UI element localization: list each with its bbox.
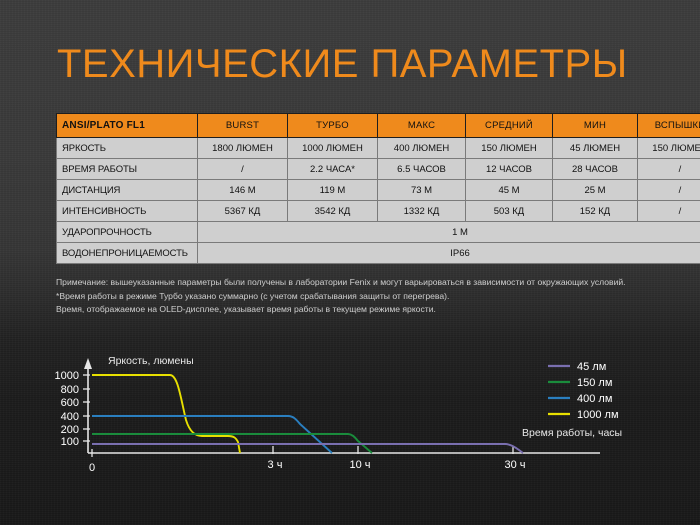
cell-distance-max: 73 М [378,180,466,201]
table-header-cell-6: ВСПЫШКИ [638,114,700,138]
legend-label-400lm: 400 лм [577,393,612,405]
y-tick-600: 600 [61,397,79,409]
cell-runtime-turbo: 2.2 ЧАСА* [288,159,378,180]
cell-runtime-strobe: / [638,159,700,180]
cell-distance-mid: 45 М [466,180,553,201]
table-row: УДАРОПРОЧНОСТЬ 1 М [57,222,700,243]
slide-root: ТЕХНИЧЕСКИЕ ПАРАМЕТРЫ ANSI/PLATO FL1 BUR… [0,0,700,525]
table-row: ИНТЕНСИВНОСТЬ 5367 КД 3542 КД 1332 КД 50… [57,201,700,222]
cell-intensity-mid: 503 КД [466,201,553,222]
cell-intensity-turbo: 3542 КД [288,201,378,222]
cell-runtime-max: 6.5 ЧАСОВ [378,159,466,180]
chart-x-tick-labels: 0 3 ч 10 ч 30 ч [89,459,526,474]
cell-intensity-strobe: / [638,201,700,222]
legend-label-150lm: 150 лм [577,377,612,389]
chart-x-axis-title: Время работы, часы [522,427,622,439]
x-tick-10: 10 ч [349,459,370,471]
y-tick-800: 800 [61,384,79,396]
series-line-45lm [92,444,523,453]
table-header-cell-0: ANSI/PLATO FL1 [57,114,198,138]
y-tick-400: 400 [61,411,79,423]
chart-y-ticks [83,375,90,441]
cell-brightness-max: 400 ЛЮМЕН [378,138,466,159]
table-row: ВРЕМЯ РАБОТЫ / 2.2 ЧАСА* 6.5 ЧАСОВ 12 ЧА… [57,159,700,180]
cell-distance-turbo: 119 М [288,180,378,201]
note-line-3: Время, отображаемое на OLED-дисплее, ука… [56,303,646,317]
legend-label-1000lm: 1000 лм [577,409,619,421]
specifications-table: ANSI/PLATO FL1 BURST ТУРБО МАКС СРЕДНИЙ … [56,113,700,264]
x-tick-30: 30 ч [504,459,525,471]
series-line-1000lm [92,375,240,453]
chart-y-axis [84,358,92,453]
table-row: ВОДОНЕПРОНИЦАЕМОСТЬ IP66 [57,243,700,264]
row-label-intensity: ИНТЕНСИВНОСТЬ [57,201,198,222]
cell-runtime-mid: 12 ЧАСОВ [466,159,553,180]
y-tick-100: 100 [61,436,79,448]
chart-y-axis-title: Яркость, люмены [108,355,194,367]
cell-intensity-min: 152 КД [553,201,638,222]
row-label-runtime: ВРЕМЯ РАБОТЫ [57,159,198,180]
table-header-cell-1: BURST [198,114,288,138]
page-title: ТЕХНИЧЕСКИЕ ПАРАМЕТРЫ [57,42,628,87]
runtime-chart: 1000 800 600 400 200 100 0 3 ч 10 ч 30 ч… [0,340,700,525]
cell-brightness-min: 45 ЛЮМЕН [553,138,638,159]
table-header-cell-2: ТУРБО [288,114,378,138]
cell-waterproof-value: IP66 [198,243,700,264]
row-label-brightness: ЯРКОСТЬ [57,138,198,159]
x-tick-0: 0 [89,462,95,474]
chart-x-ticks [92,446,513,457]
table-row: ДИСТАНЦИЯ 146 М 119 М 73 М 45 М 25 М / [57,180,700,201]
cell-brightness-turbo: 1000 ЛЮМЕН [288,138,378,159]
chart-y-tick-labels: 1000 800 600 400 200 100 [55,370,79,448]
notes-block: Примечание: вышеуказанные параметры были… [56,276,646,317]
chart-legend: 45 лм 150 лм 400 лм 1000 лм [548,361,619,421]
cell-intensity-burst: 5367 КД [198,201,288,222]
table-header-row: ANSI/PLATO FL1 BURST ТУРБО МАКС СРЕДНИЙ … [57,114,700,138]
row-label-distance: ДИСТАНЦИЯ [57,180,198,201]
cell-brightness-strobe: 150 ЛЮМЕН [638,138,700,159]
row-label-waterproof: ВОДОНЕПРОНИЦАЕМОСТЬ [57,243,198,264]
table-row: ЯРКОСТЬ 1800 ЛЮМЕН 1000 ЛЮМЕН 400 ЛЮМЕН … [57,138,700,159]
cell-runtime-min: 28 ЧАСОВ [553,159,638,180]
legend-label-45lm: 45 лм [577,361,606,373]
cell-brightness-burst: 1800 ЛЮМЕН [198,138,288,159]
cell-runtime-burst: / [198,159,288,180]
cell-distance-min: 25 М [553,180,638,201]
cell-intensity-max: 1332 КД [378,201,466,222]
table-header-cell-3: МАКС [378,114,466,138]
row-label-impact-resistance: УДАРОПРОЧНОСТЬ [57,222,198,243]
note-line-2: *Время работы в режиме Турбо указано сум… [56,290,646,304]
table-header-cell-4: СРЕДНИЙ [466,114,553,138]
cell-distance-burst: 146 М [198,180,288,201]
table-header-cell-5: МИН [553,114,638,138]
cell-brightness-mid: 150 ЛЮМЕН [466,138,553,159]
cell-distance-strobe: / [638,180,700,201]
x-tick-3: 3 ч [268,459,283,471]
y-tick-1000: 1000 [55,370,79,382]
y-tick-200: 200 [61,424,79,436]
note-line-1: Примечание: вышеуказанные параметры были… [56,276,646,290]
cell-impact-resistance-value: 1 М [198,222,700,243]
